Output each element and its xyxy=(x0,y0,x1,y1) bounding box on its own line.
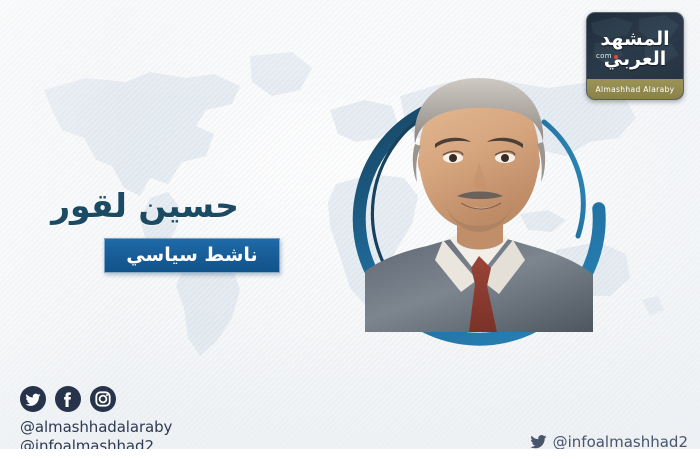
logo-dot-accent xyxy=(614,55,618,59)
subject-title-text: ناشط سياسي xyxy=(126,246,257,265)
portrait-container xyxy=(348,88,610,350)
instagram-icon[interactable] xyxy=(90,386,116,412)
twitter-icon[interactable] xyxy=(20,386,46,412)
social-handle-primary[interactable]: @almashhadalaraby xyxy=(20,418,172,437)
logo-arabic-line-1: المشهد xyxy=(587,29,683,49)
subject-title-badge: ناشط سياسي xyxy=(104,238,280,273)
promo-card: حسين لقور ناشط سياسي المشهد العربي com A… xyxy=(0,0,700,459)
social-icon-row xyxy=(20,386,116,412)
facebook-icon[interactable] xyxy=(55,386,81,412)
portrait-photo xyxy=(365,70,593,332)
bottom-edge-strip xyxy=(0,449,700,459)
logo-caption: Almashhad Alaraby xyxy=(587,79,683,99)
subject-name: حسين لقور xyxy=(0,186,290,225)
twitter-icon xyxy=(530,435,547,449)
channel-logo[interactable]: المشهد العربي com Almashhad Alaraby xyxy=(586,12,684,100)
logo-com-label: com xyxy=(596,52,612,60)
logo-arabic-text: المشهد العربي xyxy=(587,29,683,69)
portrait-photo-clip xyxy=(365,70,593,332)
